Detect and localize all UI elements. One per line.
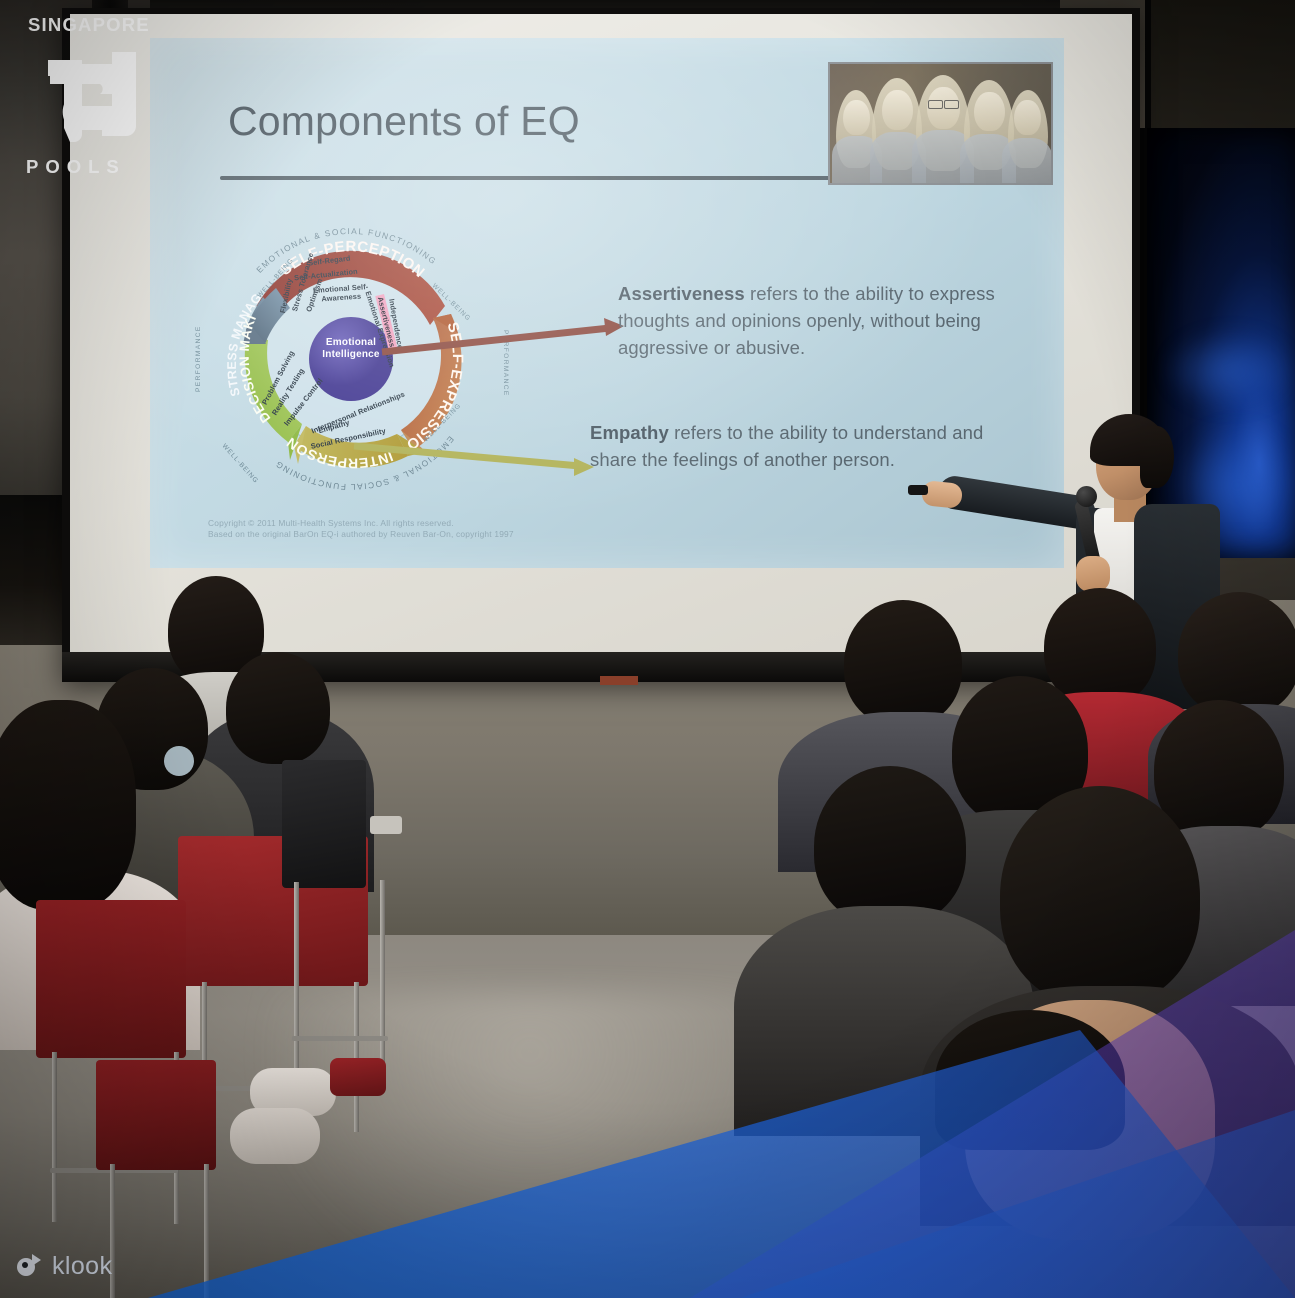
presenter-clicker <box>908 485 928 495</box>
eq-core-label-line1: Emotional <box>326 337 376 348</box>
slide-copyright: Copyright © 2011 Multi-Health Systems In… <box>208 518 514 540</box>
singapore-pools-s-monogram-icon <box>40 42 144 152</box>
screen-foot-plate <box>600 676 638 685</box>
callout-term-empathy: Empathy <box>590 422 669 443</box>
chair <box>282 760 422 1090</box>
callout-empathy: Empathy refers to the ability to underst… <box>590 419 1030 473</box>
bag <box>330 1058 386 1096</box>
singapore-pools-logo: SINGAPORE POOLS <box>16 14 146 174</box>
eq-model-wheel: EMOTIONAL & SOCIAL FUNCTIONING EMOTIONAL… <box>186 194 516 524</box>
klook-wordmark: klook <box>52 1252 112 1281</box>
axis-label-well-being-bl: WELL-BEING <box>221 443 260 485</box>
slide-photo-five-expressions <box>828 62 1053 185</box>
page-title: Components of EQ <box>228 98 580 145</box>
copyright-line-2: Based on the original BarOn EQ-i authore… <box>208 529 514 540</box>
microphone-head <box>1076 486 1097 507</box>
copyright-line-1: Copyright © 2011 Multi-Health Systems In… <box>208 518 514 529</box>
logo-text-pools: POOLS <box>26 156 126 178</box>
eq-core-label-line2: Intelligence <box>322 349 379 360</box>
title-divider <box>220 176 920 180</box>
presenter-mic-hand <box>1076 556 1110 592</box>
callout-assertiveness: Assertiveness refers to the ability to e… <box>618 280 1038 361</box>
klook-watermark: klook <box>14 1248 124 1284</box>
axis-label-performance-right: PERFORMANCE <box>502 330 509 397</box>
screenshot-canvas: Components of EQ <box>0 0 1295 1298</box>
presenter-hair-back <box>1140 426 1174 488</box>
wall-panel-upper <box>1145 0 1295 128</box>
logo-text-singapore: SINGAPORE <box>28 14 150 36</box>
callout-term-assertiveness: Assertiveness <box>618 283 745 304</box>
axis-label-performance-left: PERFORMANCE <box>195 325 202 392</box>
klook-logo-mark-icon <box>16 1251 46 1279</box>
display-glow <box>1165 330 1295 410</box>
shoe <box>230 1108 320 1164</box>
presenter-hand <box>921 480 963 509</box>
